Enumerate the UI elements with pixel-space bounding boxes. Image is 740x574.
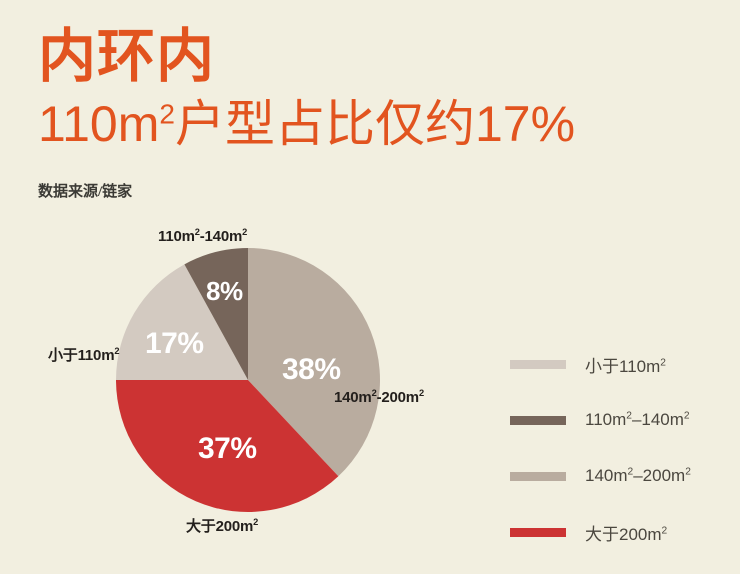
- legend-label-text: 110m: [585, 410, 626, 429]
- subtitle-text-pre: 110m: [38, 96, 159, 152]
- legend-label-superscript-2: 2: [684, 410, 690, 421]
- callout-text-2: -140m: [200, 228, 242, 245]
- legend-label-text: 小于110m: [585, 357, 660, 376]
- pie-callout-110-140: 110m2-140m2: [158, 228, 247, 245]
- legend-label-superscript: 2: [662, 525, 668, 536]
- pie-callout-lt110: 小于110m2: [48, 344, 119, 365]
- callout-superscript-2: 2: [419, 388, 424, 398]
- subtitle-text-post: 户型占比仅约17%: [175, 96, 575, 152]
- legend-swatch-icon: [510, 528, 566, 537]
- legend-swatch-icon: [510, 360, 566, 369]
- callout-text: 小于110m: [48, 347, 114, 364]
- pie-value-lt110: 17%: [145, 327, 204, 361]
- infographic-canvas: 内环内 110m2户型占比仅约17% 数据来源/链家 38% 37% 17% 8…: [0, 0, 740, 574]
- callout-superscript: 2: [114, 346, 119, 356]
- pie-callout-gt200: 大于200m2: [186, 515, 258, 536]
- callout-text: 110m: [158, 228, 195, 245]
- legend-label-text-2: –140m: [632, 410, 684, 429]
- pie-value-140-200: 38%: [282, 353, 341, 387]
- page-title: 内环内: [38, 26, 215, 88]
- legend-label-superscript: 2: [660, 357, 666, 368]
- legend-item-110-140[interactable]: 110m2–140m2: [510, 392, 725, 448]
- legend-label-lt110: 小于110m2: [585, 352, 666, 377]
- legend-label-110-140: 110m2–140m2: [585, 410, 690, 430]
- data-source-note: 数据来源/链家: [38, 180, 132, 201]
- legend-item-gt200[interactable]: 大于200m2: [510, 504, 725, 560]
- legend-item-140-200[interactable]: 140m2–200m2: [510, 448, 725, 504]
- callout-superscript: 2: [253, 517, 258, 527]
- pie-callout-140-200: 140m2-200m2: [334, 389, 424, 406]
- callout-text-2: -200m: [377, 389, 419, 406]
- page-subtitle: 110m2户型占比仅约17%: [38, 96, 575, 152]
- legend-swatch-icon: [510, 416, 566, 425]
- legend-label-text-2: –200m: [633, 466, 685, 485]
- pie-value-gt200: 37%: [198, 432, 257, 466]
- callout-superscript-2: 2: [242, 227, 247, 237]
- pie-chart-svg: [110, 242, 386, 518]
- callout-text: 140m: [334, 389, 372, 406]
- legend-label-text: 大于200m: [585, 525, 662, 544]
- legend-swatch-icon: [510, 472, 566, 481]
- callout-text: 大于200m: [186, 518, 253, 535]
- legend-label-superscript-2: 2: [685, 466, 691, 477]
- pie-value-110-140: 8%: [206, 276, 243, 307]
- chart-legend: 小于110m2 110m2–140m2 140m2–200m2 大于200m2: [510, 336, 725, 560]
- legend-label-text: 140m: [585, 466, 628, 485]
- pie-chart: [110, 242, 386, 518]
- legend-item-lt110[interactable]: 小于110m2: [510, 336, 725, 392]
- legend-label-gt200: 大于200m2: [585, 520, 667, 545]
- subtitle-superscript: 2: [159, 98, 175, 129]
- legend-label-140-200: 140m2–200m2: [585, 466, 691, 486]
